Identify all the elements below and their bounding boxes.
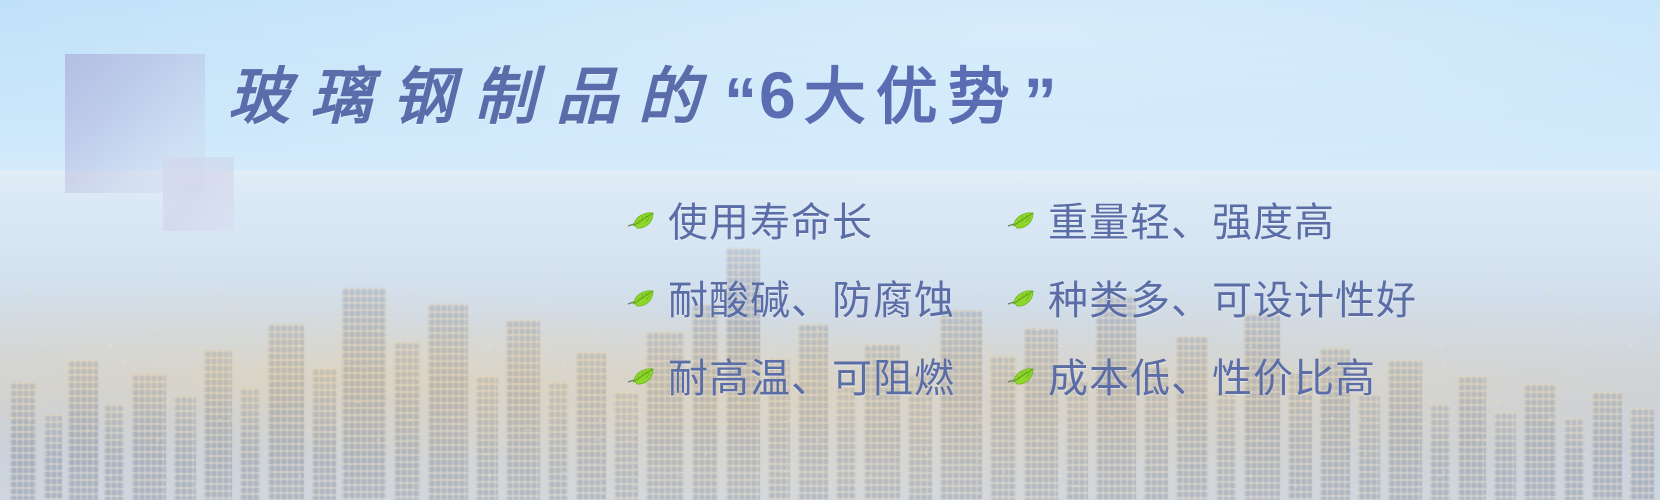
leaf-icon [1008,289,1034,309]
advantage-label: 成本低、性价比高 [1048,346,1376,404]
leaf-icon [628,289,654,309]
building-silhouette [1564,418,1584,500]
title-quote-close: ” [1024,68,1057,134]
advantage-label: 重量轻、强度高 [1048,190,1335,248]
banner-title: 玻璃钢制品的 “ 6 大优势 ” [228,62,1059,129]
building-silhouette [342,288,386,500]
building-silhouette [204,350,232,500]
title-number: 6 [759,62,804,128]
advantage-item: 使用寿命长 [628,190,998,248]
building-silhouette [240,388,260,500]
building-silhouette [104,404,124,500]
building-silhouette [1430,404,1450,500]
building-silhouette [44,414,62,500]
promo-banner: 玻璃钢制品的 “ 6 大优势 ” 使用寿命长 [0,0,1660,500]
building-silhouette [132,374,166,500]
title-brush-text: 玻璃钢制品的 [228,66,720,128]
decorative-square-small [163,157,234,231]
building-silhouette [1358,394,1380,500]
advantage-item: 耐高温、可阻燃 [628,346,998,404]
advantage-label: 种类多、可设计性好 [1048,268,1417,326]
advantage-label: 使用寿命长 [668,190,873,248]
building-silhouette [476,376,498,500]
building-silhouette [614,392,638,500]
title-quote-open: “ [724,68,757,134]
advantages-list: 使用寿命长 重量轻、强度高 [628,190,1408,404]
building-silhouette [394,342,420,500]
building-silhouette [1630,408,1654,500]
building-silhouette [548,382,568,500]
building-silhouette [174,396,196,500]
building-silhouette [10,382,36,500]
advantage-item: 种类多、可设计性好 [1008,268,1408,326]
advantage-item: 重量轻、强度高 [1008,190,1408,248]
building-silhouette [506,320,540,500]
advantage-label: 耐高温、可阻燃 [668,346,955,404]
building-silhouette [576,352,606,500]
leaf-icon [1008,211,1034,231]
advantage-item: 耐酸碱、防腐蚀 [628,268,998,326]
advantage-item: 成本低、性价比高 [1008,346,1408,404]
title-bold-text: 大优势 [804,67,1020,129]
building-silhouette [268,324,304,500]
leaf-icon [628,211,654,231]
building-silhouette [312,368,336,500]
building-silhouette [1592,392,1622,500]
building-silhouette [1524,384,1556,500]
building-silhouette [1494,412,1516,500]
leaf-icon [628,367,654,387]
advantage-label: 耐酸碱、防腐蚀 [668,268,955,326]
leaf-icon [1008,367,1034,387]
building-silhouette [68,360,98,500]
building-silhouette [1216,390,1236,500]
building-silhouette [1458,376,1486,500]
building-silhouette [428,304,468,500]
